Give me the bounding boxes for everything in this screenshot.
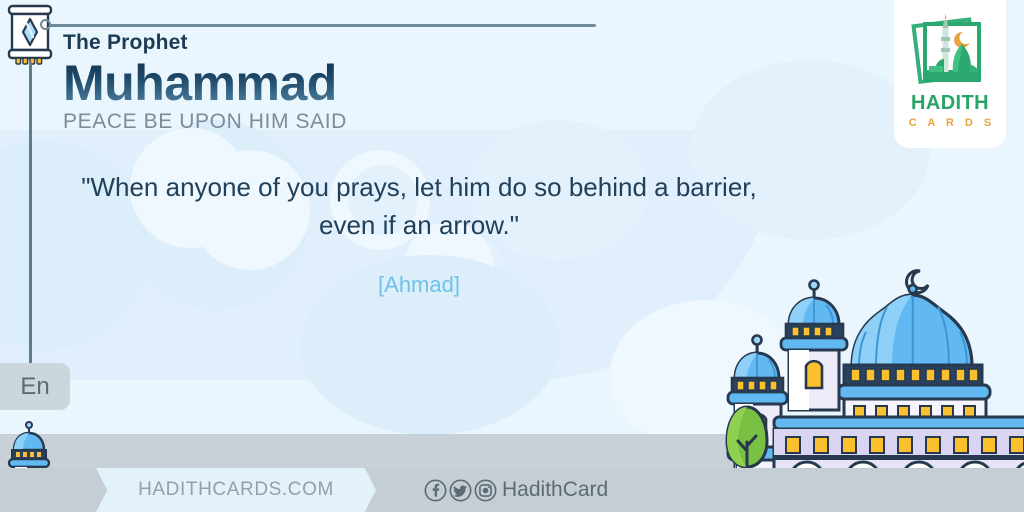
footer-social-block: HadithCard	[424, 468, 608, 512]
facebook-icon[interactable]	[424, 479, 447, 502]
footer-website[interactable]: HADITHCARDS.COM	[96, 468, 376, 512]
logo-word-hadith: HADITH	[911, 92, 989, 115]
hadith-card: The Prophet Muhammad PEACE BE UPON HIM S…	[0, 0, 1024, 512]
twitter-icon[interactable]	[449, 479, 472, 502]
footer-bar: HADITHCARDS.COM HadithCard	[0, 468, 1024, 512]
middle-minaret	[781, 281, 847, 411]
logo-word-cards: C A R D S	[905, 117, 996, 129]
hadith-quote-text: "When anyone of you prays, let him do so…	[64, 168, 774, 245]
instagram-icon[interactable]	[474, 479, 497, 502]
page-title-muhammad: Muhammad	[63, 57, 347, 110]
header-divider-line	[50, 24, 596, 27]
language-badge-en[interactable]: En	[0, 363, 70, 410]
language-badge-label: En	[20, 373, 49, 401]
hadith-cards-logo[interactable]: HADITH C A R D S	[894, 0, 1006, 148]
lantern-icon	[4, 4, 56, 66]
main-dome	[838, 271, 990, 435]
footer-social-handle[interactable]: HadithCard	[502, 478, 608, 502]
mosque-photo-card-icon	[909, 12, 991, 90]
hadith-source-reference: [Ahmad]	[64, 272, 774, 298]
header-block: The Prophet Muhammad PEACE BE UPON HIM S…	[63, 32, 347, 132]
subtitle-peace-be-upon-him: PEACE BE UPON HIM SAID	[63, 111, 347, 132]
eyebrow-the-prophet: The Prophet	[63, 32, 347, 53]
lantern-rod	[29, 62, 32, 365]
